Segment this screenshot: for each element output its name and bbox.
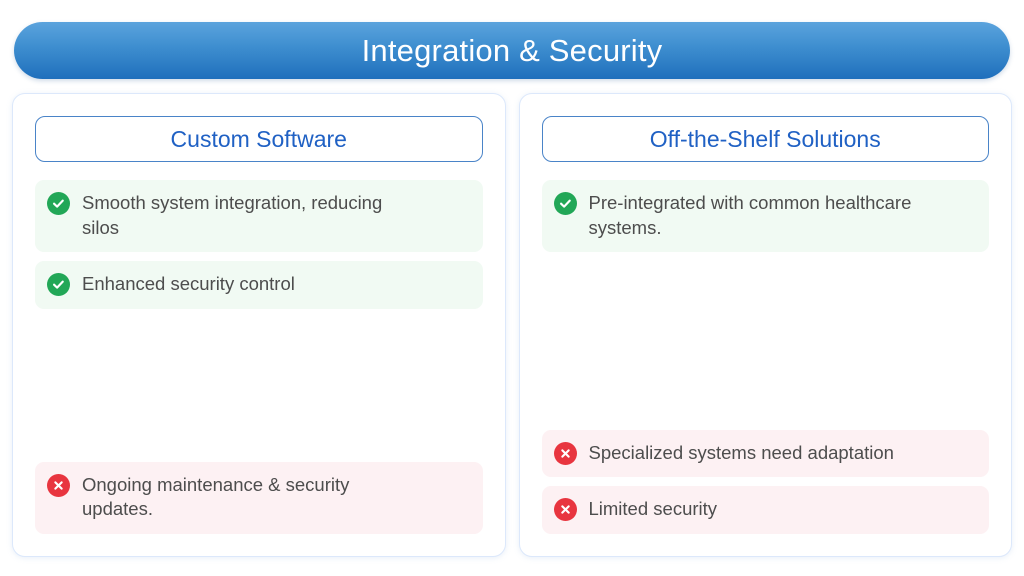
comparison-columns: Custom Software Smooth system integratio… xyxy=(12,93,1012,557)
list-item-label: Enhanced security control xyxy=(82,272,295,297)
check-circle-icon xyxy=(554,192,577,215)
list-item: Limited security xyxy=(542,486,990,534)
pros-group-right: Pre-integrated with common healthcare sy… xyxy=(542,180,990,252)
card-title-pill-left[interactable]: Custom Software xyxy=(35,116,483,162)
card-title-pill-right[interactable]: Off-the-Shelf Solutions xyxy=(542,116,990,162)
group-spacer xyxy=(542,252,990,430)
card-title-right: Off-the-Shelf Solutions xyxy=(650,128,881,151)
comparison-slide: Integration & Security Custom Software S… xyxy=(0,0,1024,576)
comparison-card-off-the-shelf: Off-the-Shelf Solutions Pre-integrated w… xyxy=(519,93,1013,557)
list-item: Enhanced security control xyxy=(35,261,483,309)
list-item-label: Specialized systems need adaptation xyxy=(589,441,894,466)
feature-list-left: Smooth system integration, reducing silo… xyxy=(35,180,483,556)
cross-circle-icon xyxy=(554,498,577,521)
check-circle-icon xyxy=(47,273,70,296)
card-title-left: Custom Software xyxy=(171,128,347,151)
header-banner: Integration & Security xyxy=(14,22,1010,79)
cross-circle-icon xyxy=(554,442,577,465)
pros-group-left: Smooth system integration, reducing silo… xyxy=(35,180,483,309)
cross-circle-icon xyxy=(47,474,70,497)
list-item: Smooth system integration, reducing silo… xyxy=(35,180,483,252)
list-item-label: Smooth system integration, reducing silo… xyxy=(82,191,412,240)
list-item-label: Limited security xyxy=(589,497,718,522)
group-spacer xyxy=(35,309,483,462)
cons-group-left: Ongoing maintenance & security updates. xyxy=(35,462,483,534)
card-bottom-pad xyxy=(35,534,483,556)
list-item-label: Ongoing maintenance & security updates. xyxy=(82,473,412,522)
page-title: Integration & Security xyxy=(362,35,663,66)
list-item: Pre-integrated with common healthcare sy… xyxy=(542,180,990,252)
list-item: Specialized systems need adaptation xyxy=(542,430,990,478)
check-circle-icon xyxy=(47,192,70,215)
list-item: Ongoing maintenance & security updates. xyxy=(35,462,483,534)
feature-list-right: Pre-integrated with common healthcare sy… xyxy=(542,180,990,556)
list-item-label: Pre-integrated with common healthcare sy… xyxy=(589,191,919,240)
comparison-card-custom-software: Custom Software Smooth system integratio… xyxy=(12,93,506,557)
card-bottom-pad xyxy=(542,534,990,556)
cons-group-right: Specialized systems need adaptation Limi… xyxy=(542,430,990,534)
